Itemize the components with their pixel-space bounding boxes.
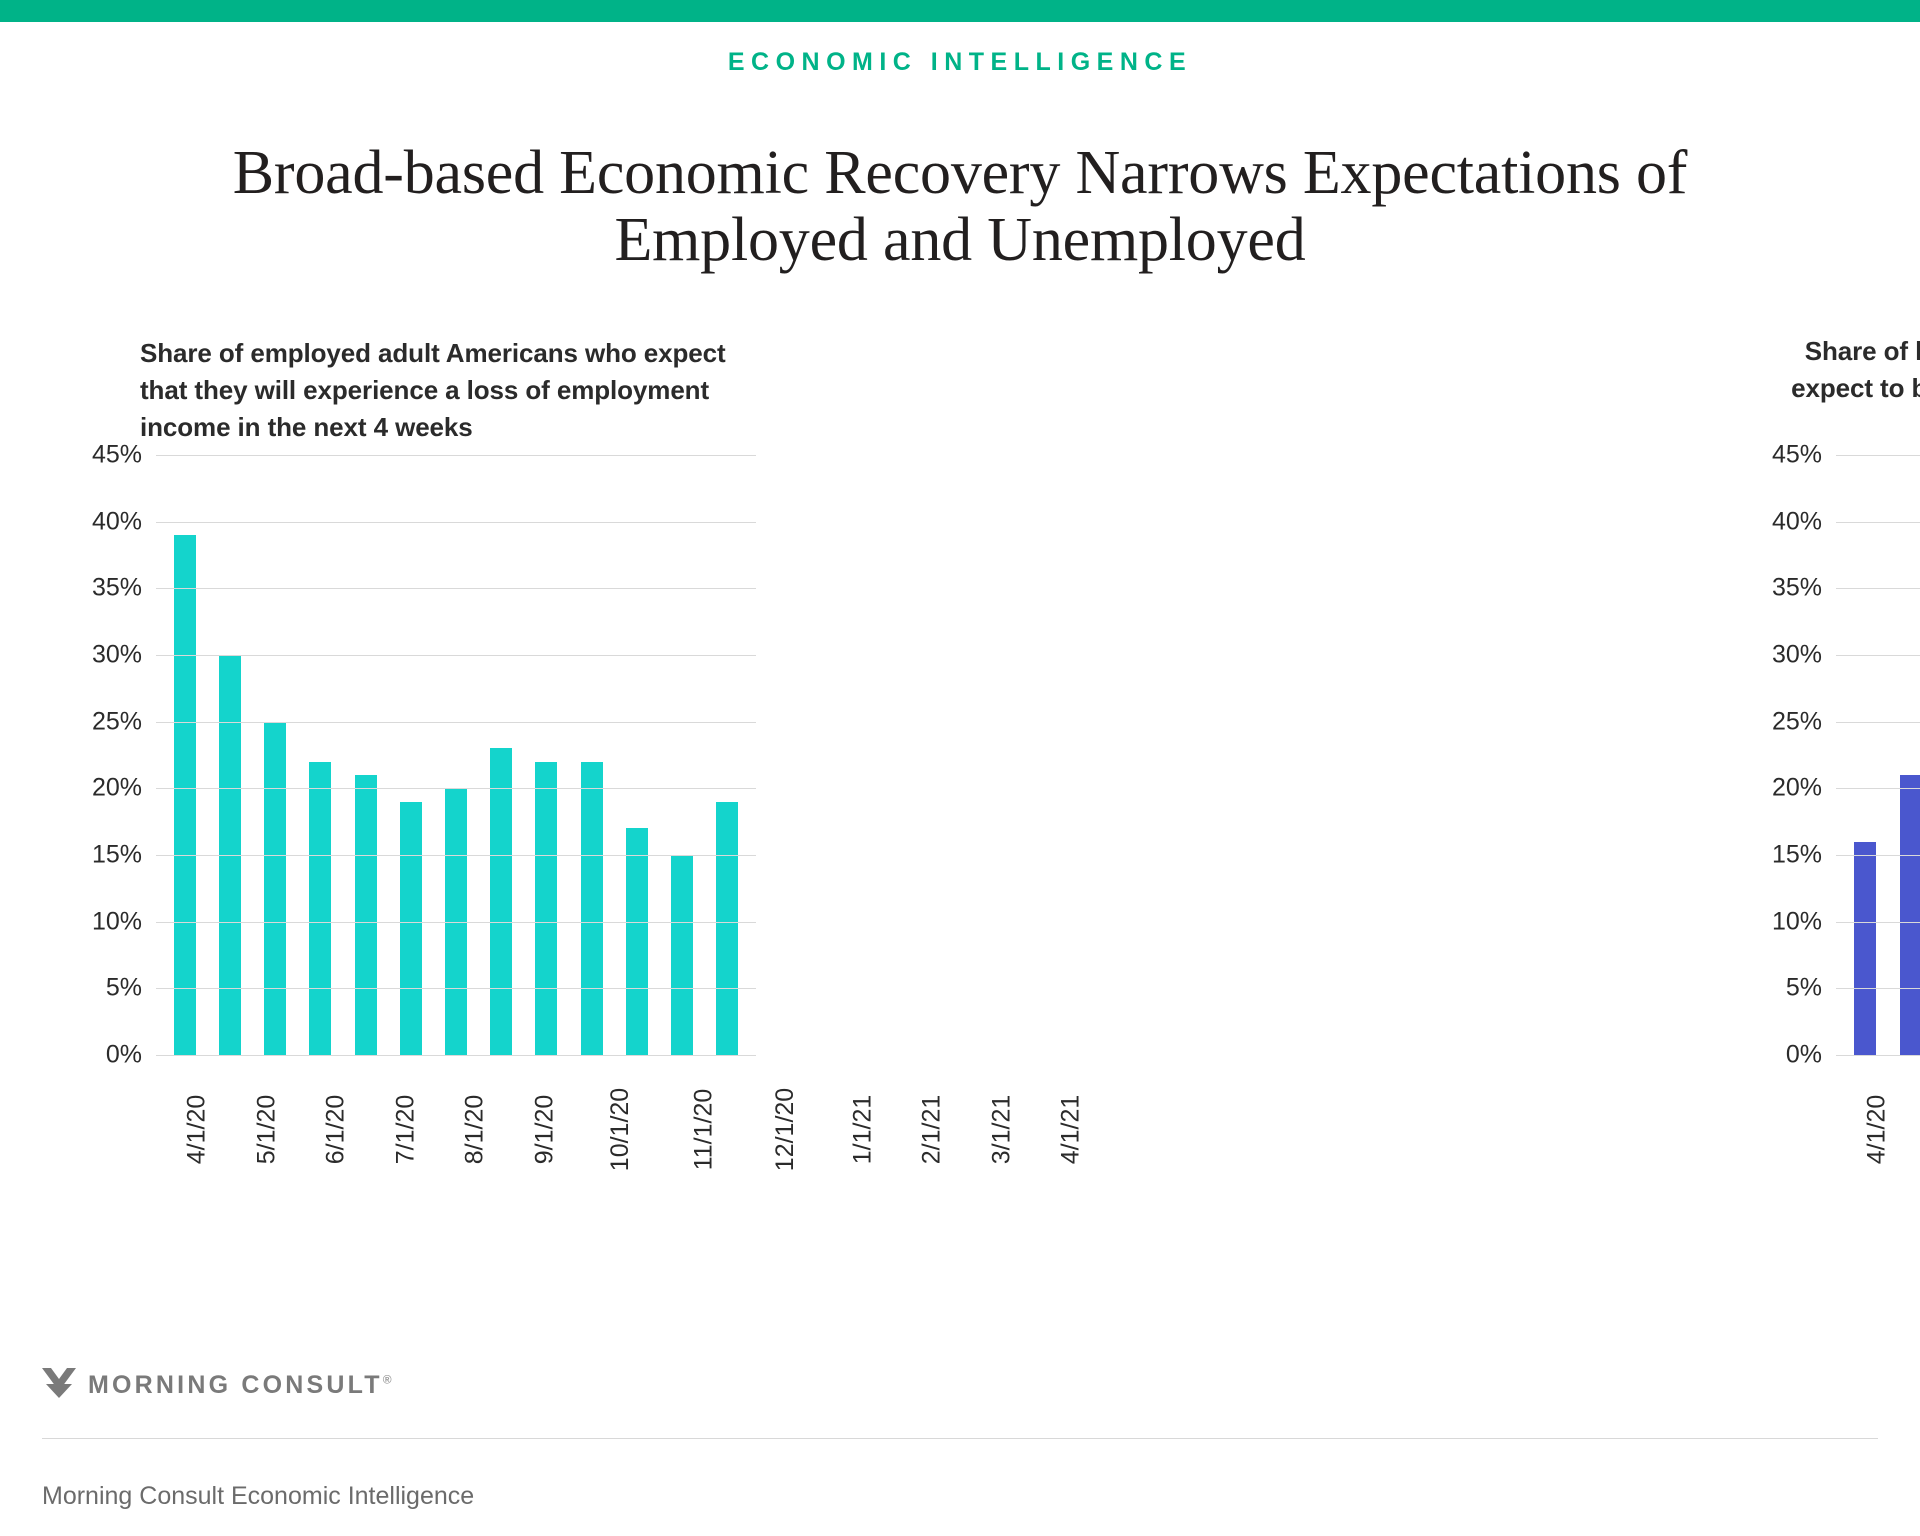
- y-axis-tick-label: 40%: [92, 507, 142, 536]
- grid-line: [156, 655, 756, 656]
- bar: [1900, 775, 1920, 1055]
- y-axis-tick-label: 45%: [92, 441, 142, 470]
- x-axis-employed: 4/1/205/1/206/1/207/1/208/1/209/1/2010/1…: [156, 1067, 756, 1217]
- bar: [581, 762, 603, 1055]
- x-axis-tick: 8/1/20: [440, 1067, 510, 1217]
- y-axis-tick-label: 25%: [92, 707, 142, 736]
- grid-line: [1836, 855, 1920, 856]
- x-axis-tick: 6/1/20: [301, 1067, 371, 1217]
- y-axis-tick-label: 35%: [1772, 574, 1822, 603]
- bar: [716, 802, 738, 1055]
- y-axis-tick-label: 20%: [92, 774, 142, 803]
- x-axis-tick: 10/1/20: [579, 1067, 662, 1217]
- grid-line: [156, 988, 756, 989]
- bar-series-laidoff: [1836, 455, 1920, 1055]
- grid-line: [1836, 722, 1920, 723]
- grid-line: [1836, 1055, 1920, 1056]
- bar-slot: [343, 455, 388, 1055]
- y-axis-tick-label: 10%: [92, 907, 142, 936]
- grid-line: [1836, 655, 1920, 656]
- bar: [490, 748, 512, 1055]
- infographic-page: ECONOMIC INTELLIGENCE Broad-based Econom…: [0, 0, 1920, 1536]
- x-axis-tick: 12/1/20: [744, 1067, 827, 1217]
- footer-divider: [42, 1438, 1878, 1439]
- bar-slot: [660, 455, 705, 1055]
- x-axis-tick-label: 6/1/20: [321, 1095, 350, 1165]
- bar-slot: [614, 455, 659, 1055]
- y-axis-tick-label: 0%: [106, 1041, 142, 1070]
- footer-source-note: Morning Consult Economic Intelligence: [42, 1482, 474, 1511]
- y-axis-tick-label: 5%: [1786, 974, 1822, 1003]
- y-axis-tick-label: 15%: [1772, 841, 1822, 870]
- bar-slot: [1842, 455, 1888, 1055]
- bar: [309, 762, 331, 1055]
- x-axis-tick-label: 9/1/20: [530, 1095, 559, 1165]
- bar-slot: [162, 455, 207, 1055]
- x-axis-tick: 11/1/20: [663, 1067, 745, 1217]
- y-axis-tick-label: 0%: [1786, 1041, 1822, 1070]
- x-axis-tick-label: 10/1/20: [606, 1088, 635, 1171]
- grid-line: [1836, 922, 1920, 923]
- grid-line: [156, 455, 756, 456]
- y-axis-tick-label: 15%: [92, 841, 142, 870]
- x-axis-tick-label: 5/1/20: [252, 1095, 281, 1165]
- y-axis-tick-label: 30%: [1772, 641, 1822, 670]
- grid-line: [156, 1055, 756, 1056]
- grid-line: [1836, 988, 1920, 989]
- bar: [264, 722, 286, 1055]
- x-axis-tick-label: 8/1/20: [460, 1095, 489, 1165]
- bar-slot: [298, 455, 343, 1055]
- x-axis-tick-label: 12/1/20: [771, 1088, 800, 1171]
- x-axis-tick: 1/1/21: [828, 1067, 898, 1217]
- registered-mark: ®: [383, 1373, 392, 1387]
- grid-line: [156, 522, 756, 523]
- bar-slot: [388, 455, 433, 1055]
- bar-slot: [569, 455, 614, 1055]
- bar: [355, 775, 377, 1055]
- grid-line: [1836, 455, 1920, 456]
- grid-line: [156, 588, 756, 589]
- x-axis-tick-label: 4/1/20: [1862, 1095, 1891, 1165]
- y-axis-tick-label: 45%: [1772, 441, 1822, 470]
- chart-panel-laidoff: Share of laid off or furloughed workers …: [960, 325, 1920, 1335]
- page-title: Broad-based Economic Recovery Narrows Ex…: [160, 140, 1760, 274]
- bar-slot: [705, 455, 750, 1055]
- bar: [400, 802, 422, 1055]
- bar-slot: [524, 455, 569, 1055]
- y-axis-laidoff: 45%40%35%30%25%20%15%10%5%0%: [1750, 455, 1822, 1055]
- bar-series-employed: [156, 455, 756, 1055]
- grid-line: [156, 922, 756, 923]
- brand-wordmark: MORNING CONSULT®: [88, 1371, 392, 1400]
- grid-line: [156, 722, 756, 723]
- x-axis-tick-label: 1/1/21: [848, 1095, 877, 1165]
- y-axis-tick-label: 35%: [92, 574, 142, 603]
- y-axis-tick-label: 20%: [1772, 774, 1822, 803]
- chart-title-employed: Share of employed adult Americans who ex…: [140, 335, 750, 446]
- bar: [626, 828, 648, 1055]
- bar: [535, 762, 557, 1055]
- x-axis-tick-label: 11/1/20: [689, 1089, 718, 1171]
- x-axis-tick: 4/1/20: [162, 1067, 232, 1217]
- chart-panel-employed: Share of employed adult Americans who ex…: [0, 325, 960, 1335]
- bar: [1854, 842, 1876, 1055]
- eyebrow-label: ECONOMIC INTELLIGENCE: [0, 48, 1920, 77]
- grid-line: [1836, 788, 1920, 789]
- grid-line: [156, 855, 756, 856]
- chart-title-laidoff: Share of laid off or furloughed workers …: [1770, 333, 1920, 444]
- bar-slot: [479, 455, 524, 1055]
- x-axis-tick: 5/1/20: [1912, 1067, 1920, 1217]
- grid-line: [1836, 522, 1920, 523]
- x-axis-tick: 4/1/20: [1842, 1067, 1912, 1217]
- plot-area-laidoff: [1836, 455, 1920, 1055]
- x-axis-tick-label: 4/1/20: [182, 1095, 211, 1165]
- y-axis-tick-label: 30%: [92, 641, 142, 670]
- bar-slot: [433, 455, 478, 1055]
- charts-container: Share of employed adult Americans who ex…: [0, 325, 1920, 1335]
- brand-logo: MORNING CONSULT®: [42, 1368, 392, 1403]
- y-axis-tick-label: 10%: [1772, 907, 1822, 936]
- brand-wordmark-text: MORNING CONSULT: [88, 1371, 383, 1399]
- y-axis-tick-label: 40%: [1772, 507, 1822, 536]
- x-axis-tick: 9/1/20: [510, 1067, 580, 1217]
- x-axis-laidoff: 4/1/205/1/206/1/207/1/208/1/209/1/2010/1…: [1836, 1067, 1920, 1217]
- grid-line: [156, 788, 756, 789]
- bar: [174, 535, 196, 1055]
- x-axis-tick-label: 2/1/21: [917, 1095, 946, 1165]
- y-axis-tick-label: 5%: [106, 974, 142, 1003]
- x-axis-tick: 2/1/21: [897, 1067, 967, 1217]
- brand-accent-bar: [0, 0, 1920, 22]
- bar-slot: [207, 455, 252, 1055]
- y-axis-tick-label: 25%: [1772, 707, 1822, 736]
- plot-employed: 45%40%35%30%25%20%15%10%5%0% 4/1/205/1/2…: [70, 455, 770, 1185]
- bar: [671, 855, 693, 1055]
- x-axis-tick-label: 7/1/20: [391, 1095, 420, 1165]
- y-axis-employed: 45%40%35%30%25%20%15%10%5%0%: [70, 455, 142, 1055]
- plot-area-employed: [156, 455, 756, 1055]
- bar-slot: [1888, 455, 1920, 1055]
- x-axis-tick: 5/1/20: [232, 1067, 302, 1217]
- plot-laidoff: 45%40%35%30%25%20%15%10%5%0% 4/1/205/1/2…: [1750, 455, 1920, 1185]
- grid-line: [1836, 588, 1920, 589]
- morning-consult-chevron-icon: [42, 1368, 76, 1403]
- bar-slot: [252, 455, 297, 1055]
- x-axis-tick: 7/1/20: [371, 1067, 441, 1217]
